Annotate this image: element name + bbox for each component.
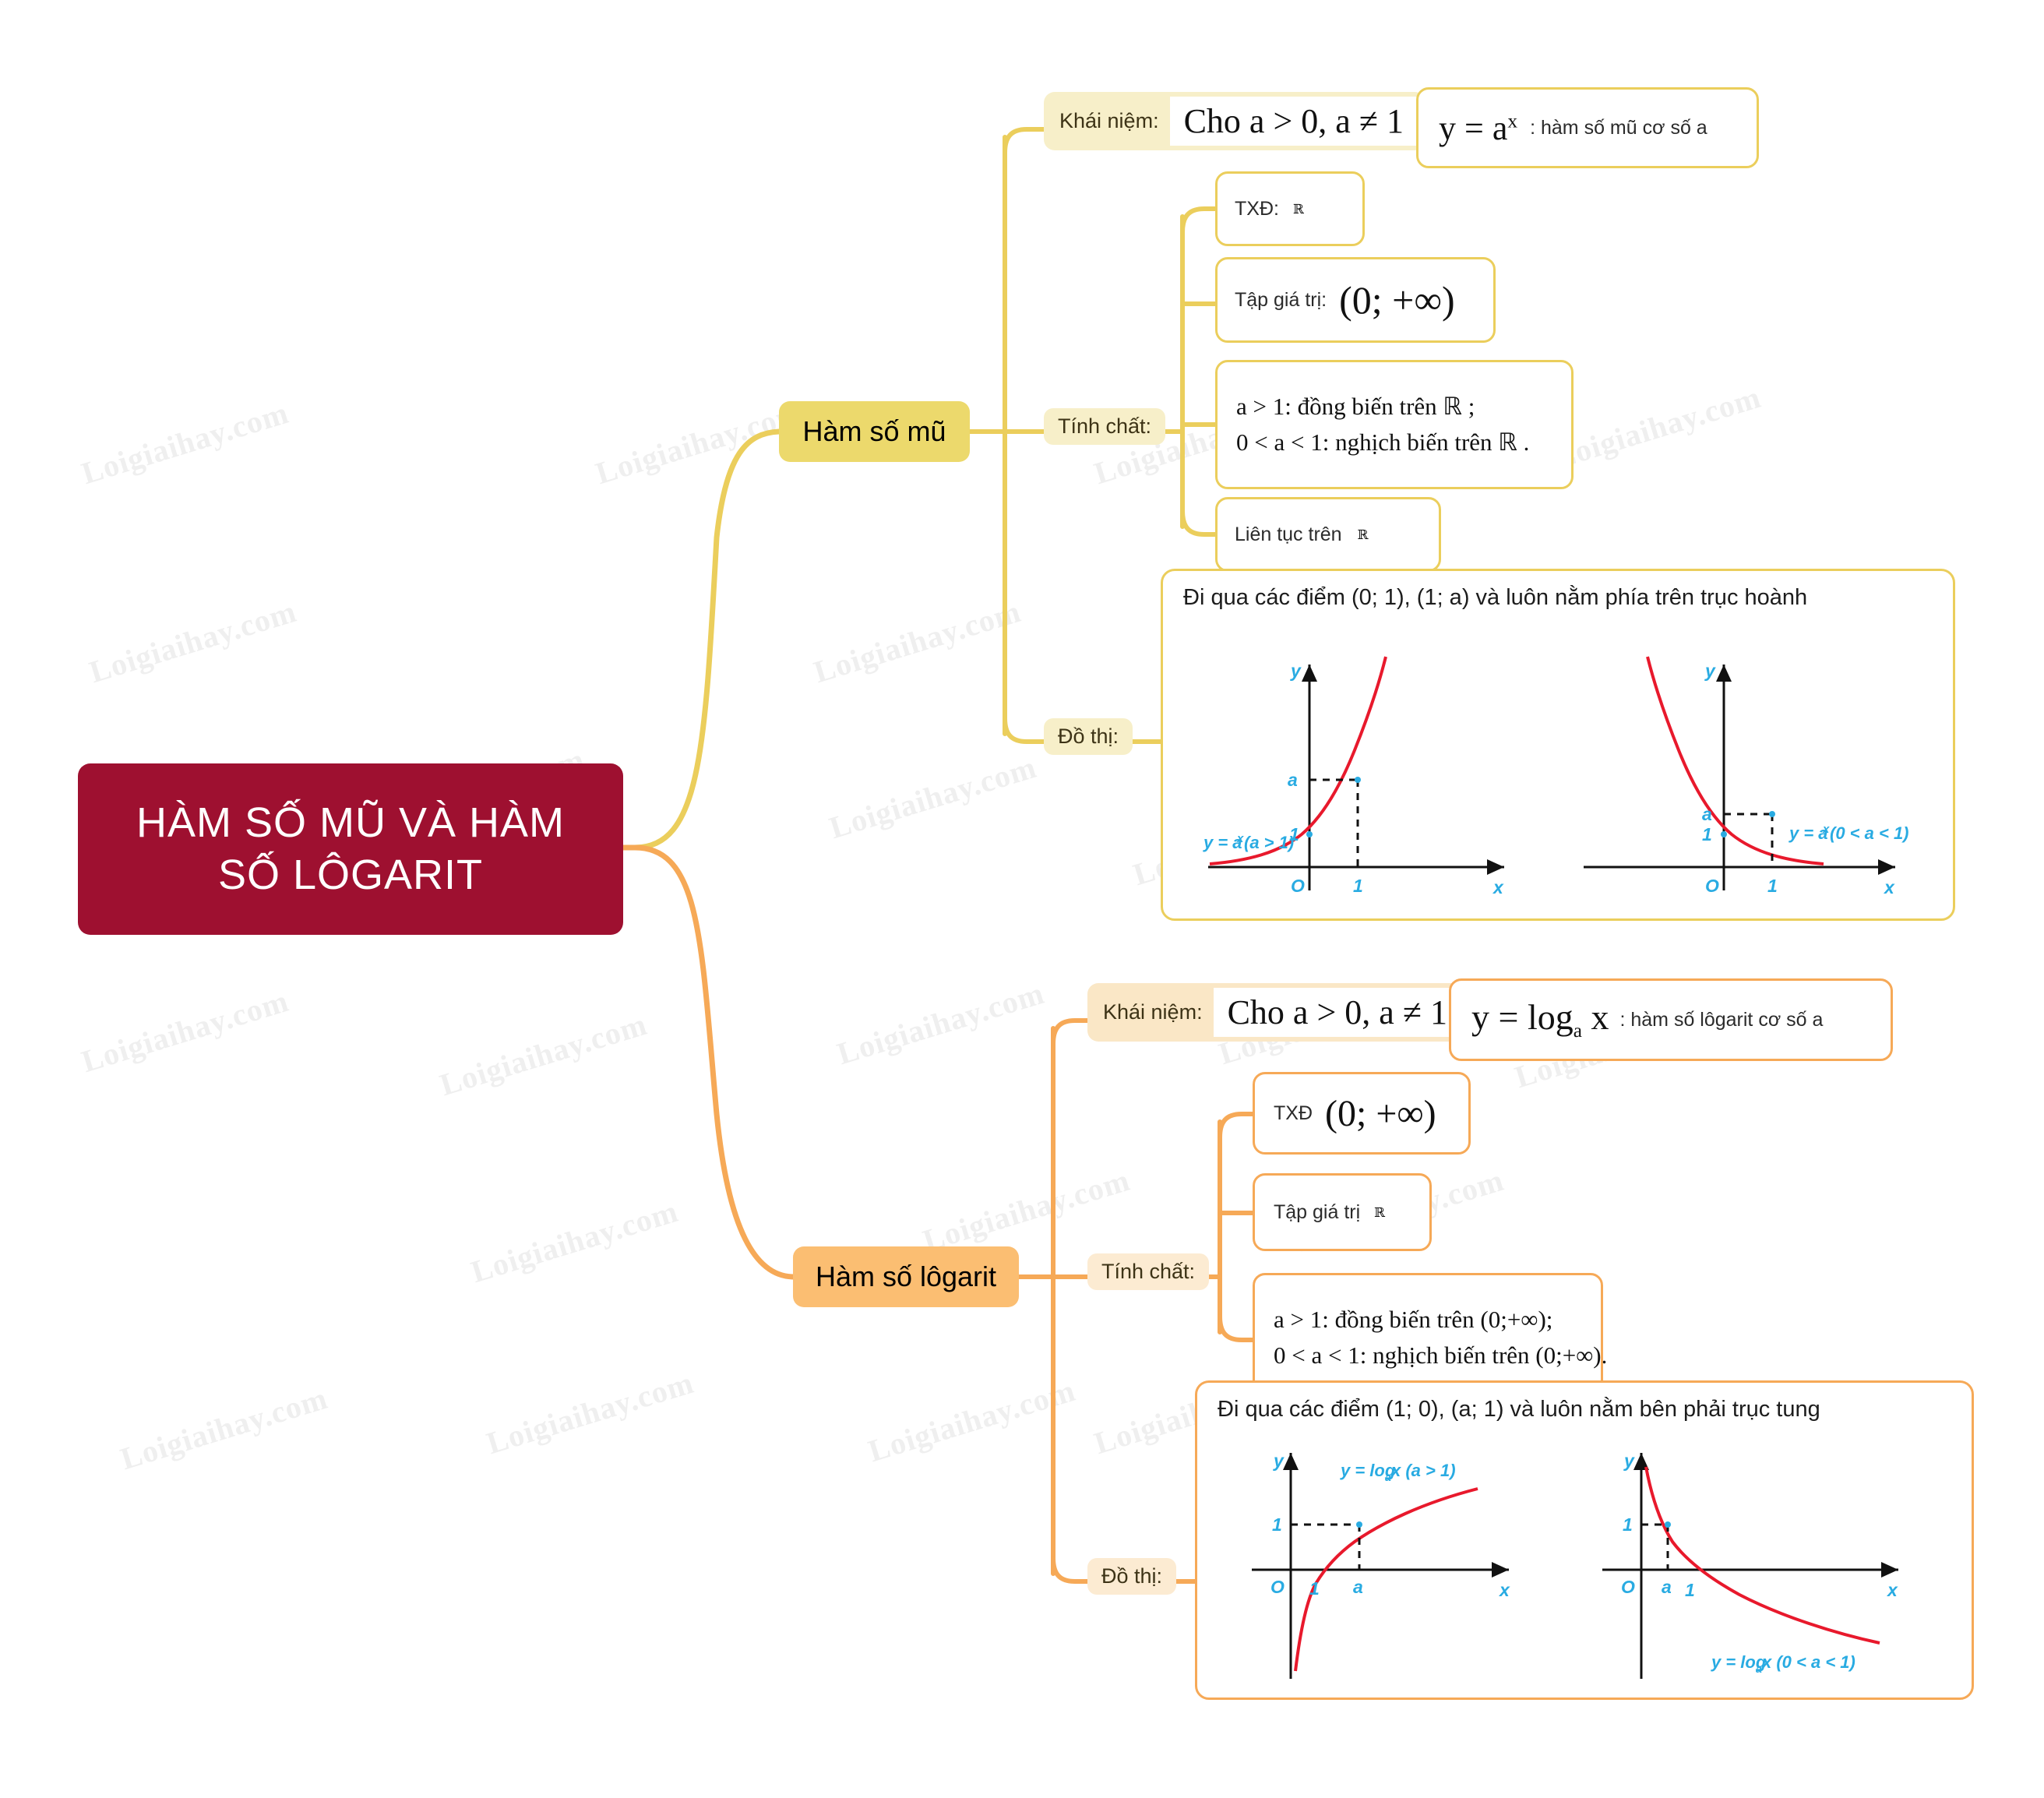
central-topic[interactable]: HÀM SỐ MŨ VÀ HÀM SỐ LÔGARIT: [78, 763, 623, 935]
exp-tinh-chat-node[interactable]: Tính chất:: [1044, 408, 1165, 445]
central-topic-line2: SỐ LÔGARIT: [136, 849, 565, 902]
svg-text:a: a: [1756, 1662, 1762, 1675]
central-topic-line1: HÀM SỐ MŨ VÀ HÀM: [136, 797, 565, 850]
figure-log-decreasing: 1 O a 1 x y y = log a x (0 < a < 1): [1587, 1437, 1937, 1694]
exp-khai-niem-formula: Cho a > 0, a ≠ 1: [1170, 97, 1418, 146]
exp-function-note: : hàm số mũ cơ số a: [1530, 117, 1707, 139]
link-log-tc-txd: [1220, 1114, 1253, 1137]
log-graph-figures: 1 O 1 a x y y = log a x (a > 1) 1: [1197, 1437, 1972, 1693]
svg-text:1: 1: [1353, 876, 1363, 896]
svg-text:x (a > 1): x (a > 1): [1390, 1461, 1456, 1480]
link-root-exp: [623, 432, 779, 848]
svg-text:x: x: [1236, 832, 1244, 845]
svg-text:x: x: [1492, 877, 1504, 897]
link-log-tc-bt: [1220, 1317, 1253, 1340]
branch-ham-so-mu[interactable]: Hàm số mũ: [779, 401, 970, 462]
exp-txd-value: ℝ: [1293, 201, 1304, 217]
exp-lien-tuc-label: Liên tục trên: [1235, 524, 1342, 546]
log-do-thi-label: Đồ thị:: [1087, 1558, 1176, 1595]
svg-text:a: a: [1353, 1577, 1363, 1597]
exp-txd-card[interactable]: TXĐ: ℝ: [1215, 171, 1365, 246]
log-tinh-chat-label: Tính chất:: [1087, 1253, 1209, 1290]
svg-text:1: 1: [1272, 1514, 1282, 1535]
mindmap-canvas: Loigiaihay.com Loigiaihay.com Loigiaihay…: [0, 0, 2044, 1798]
watermark: Loigiaihay.com: [77, 394, 293, 492]
log-graph-panel[interactable]: Đi qua các điểm (1; 0), (a; 1) và luôn n…: [1195, 1380, 1974, 1700]
exp-bien-thien-line-1: a > 1: đồng biến trên ℝ ;: [1236, 393, 1529, 421]
exp-khai-niem-label: Khái niệm:: [1044, 109, 1170, 133]
exp-function-formula: y = ax: [1439, 108, 1517, 148]
exp-khai-niem-result[interactable]: y = ax : hàm số mũ cơ số a: [1416, 87, 1759, 168]
exp-graph-panel[interactable]: Đi qua các điểm (0; 1), (1; a) và luôn n…: [1161, 569, 1955, 921]
figure-exp-increasing: a 1 O 1 x y y = a x (a > 1): [1193, 633, 1543, 914]
link-log-to-khainiem: [1053, 1021, 1087, 1044]
svg-text:(a > 1): (a > 1): [1244, 833, 1294, 852]
watermark: Loigiaihay.com: [809, 593, 1025, 690]
log-txd-label: TXĐ: [1274, 1102, 1313, 1125]
exp-tap-gia-tri-card[interactable]: Tập giá trị: (0; +∞): [1215, 257, 1496, 343]
exp-khai-niem-node[interactable]: Khái niệm: Cho a > 0, a ≠ 1: [1044, 92, 1426, 150]
watermark: Loigiaihay.com: [1549, 379, 1765, 476]
link-log-tc-vertical: [1192, 1122, 1220, 1332]
figure-log-increasing: 1 O 1 a x y y = log a x (a > 1): [1228, 1437, 1571, 1694]
log-tinh-chat-node[interactable]: Tính chất:: [1087, 1253, 1209, 1290]
watermark: Loigiaihay.com: [467, 1193, 682, 1290]
branch-label: Hàm số mũ: [802, 415, 946, 448]
log-khai-niem-result[interactable]: y = loga x : hàm số lôgarit cơ số a: [1449, 978, 1893, 1061]
watermark: Loigiaihay.com: [825, 749, 1041, 846]
log-bien-thien-lines: a > 1: đồng biến trên (0;+∞); 0 < a < 1:…: [1274, 1298, 1607, 1377]
log-txd-value: (0; +∞): [1325, 1092, 1436, 1135]
exp-tap-gia-tri-label: Tập giá trị:: [1235, 289, 1327, 312]
svg-text:1: 1: [1623, 1514, 1633, 1535]
link-exp-tc-lt: [1182, 511, 1215, 534]
svg-text:y: y: [1273, 1451, 1285, 1471]
svg-text:x (0 < a < 1): x (0 < a < 1): [1761, 1652, 1855, 1672]
exp-tap-gia-tri-value: (0; +∞): [1339, 277, 1455, 323]
log-tap-gia-tri-value: ℝ: [1374, 1204, 1385, 1220]
log-do-thi-node[interactable]: Đồ thị:: [1087, 1558, 1176, 1595]
link-log-vertical: [1019, 1028, 1053, 1574]
log-khai-niem-node[interactable]: Khái niệm: Cho a > 0, a ≠ 1: [1087, 983, 1469, 1042]
link-exp-vertical: [970, 137, 1005, 734]
svg-text:x: x: [1883, 877, 1895, 897]
svg-text:O: O: [1270, 1577, 1285, 1597]
log-khai-niem-label: Khái niệm:: [1087, 1000, 1214, 1024]
watermark: Loigiaihay.com: [85, 593, 301, 690]
exp-do-thi-node[interactable]: Đồ thị:: [1044, 718, 1133, 755]
svg-text:1: 1: [1702, 824, 1712, 844]
svg-text:y: y: [1704, 661, 1716, 681]
svg-text:x: x: [1822, 823, 1830, 836]
svg-text:a: a: [1385, 1471, 1391, 1483]
svg-text:O: O: [1291, 876, 1305, 896]
log-txd-card[interactable]: TXĐ (0; +∞): [1253, 1072, 1471, 1155]
svg-text:1: 1: [1309, 1578, 1320, 1599]
exp-txd-label: TXĐ:: [1235, 198, 1279, 220]
watermark: Loigiaihay.com: [591, 394, 807, 492]
svg-text:a: a: [1702, 804, 1712, 824]
svg-text:a: a: [1662, 1577, 1672, 1597]
svg-text:O: O: [1621, 1577, 1635, 1597]
log-graph-note: Đi qua các điểm (1; 0), (a; 1) và luôn n…: [1218, 1397, 1820, 1423]
link-exp-to-dothi: [1005, 718, 1044, 742]
watermark: Loigiaihay.com: [918, 1162, 1134, 1259]
exp-do-thi-label: Đồ thị:: [1044, 718, 1133, 755]
watermark: Loigiaihay.com: [833, 975, 1048, 1072]
svg-text:x: x: [1498, 1580, 1510, 1600]
log-tap-gia-tri-label: Tập giá trị: [1274, 1201, 1360, 1224]
log-function-note: : hàm số lôgarit cơ số a: [1619, 1009, 1823, 1031]
watermark: Loigiaihay.com: [435, 1006, 651, 1103]
link-exp-tc-txd: [1182, 209, 1215, 232]
exp-bien-thien-line-2: 0 < a < 1: nghịch biến trên ℝ .: [1236, 428, 1529, 457]
svg-text:y: y: [1290, 661, 1302, 681]
link-exp-to-khainiem: [1005, 129, 1044, 153]
svg-text:O: O: [1705, 876, 1719, 896]
exp-decreasing-equation: y = a: [1788, 823, 1828, 843]
exp-tinh-chat-label: Tính chất:: [1044, 408, 1165, 445]
link-exp-tc-vertical: [1156, 217, 1182, 527]
branch-label: Hàm số lôgarit: [816, 1260, 996, 1293]
svg-text:x: x: [1886, 1580, 1898, 1600]
exp-bien-thien-lines: a > 1: đồng biến trên ℝ ; 0 < a < 1: ngh…: [1236, 385, 1529, 464]
exp-graph-figures: a 1 O 1 x y y = a x (a > 1): [1163, 626, 1953, 914]
log-bien-thien-line-2: 0 < a < 1: nghịch biến trên (0;+∞).: [1274, 1341, 1607, 1370]
exp-bien-thien-card[interactable]: a > 1: đồng biến trên ℝ ; 0 < a < 1: ngh…: [1215, 360, 1574, 489]
svg-text:1: 1: [1685, 1580, 1695, 1600]
link-log-to-dothi: [1053, 1558, 1087, 1581]
svg-text:y: y: [1623, 1451, 1635, 1471]
watermark: Loigiaihay.com: [116, 1380, 332, 1477]
branch-ham-so-logarit[interactable]: Hàm số lôgarit: [793, 1246, 1019, 1307]
exp-increasing-equation: y = a: [1203, 833, 1242, 852]
figure-exp-decreasing: 1 a O 1 x y y = a x (0 < a < 1): [1568, 633, 1926, 914]
watermark: Loigiaihay.com: [482, 1364, 698, 1461]
watermark: Loigiaihay.com: [864, 1372, 1080, 1469]
exp-lien-tuc-value: ℝ: [1358, 527, 1369, 542]
log-tap-gia-tri-card[interactable]: Tập giá trị ℝ: [1253, 1173, 1432, 1251]
log-khai-niem-formula: Cho a > 0, a ≠ 1: [1214, 988, 1461, 1037]
svg-text:1: 1: [1767, 876, 1778, 896]
watermark: Loigiaihay.com: [77, 982, 293, 1080]
log-function-formula: y = loga x: [1471, 996, 1609, 1042]
svg-text:a: a: [1288, 770, 1298, 790]
log-bien-thien-line-1: a > 1: đồng biến trên (0;+∞);: [1274, 1306, 1607, 1334]
exp-lien-tuc-card[interactable]: Liên tục trên ℝ: [1215, 497, 1441, 572]
svg-text:(0 < a < 1): (0 < a < 1): [1830, 823, 1909, 843]
exp-graph-note: Đi qua các điểm (0; 1), (1; a) và luôn n…: [1183, 585, 1807, 611]
